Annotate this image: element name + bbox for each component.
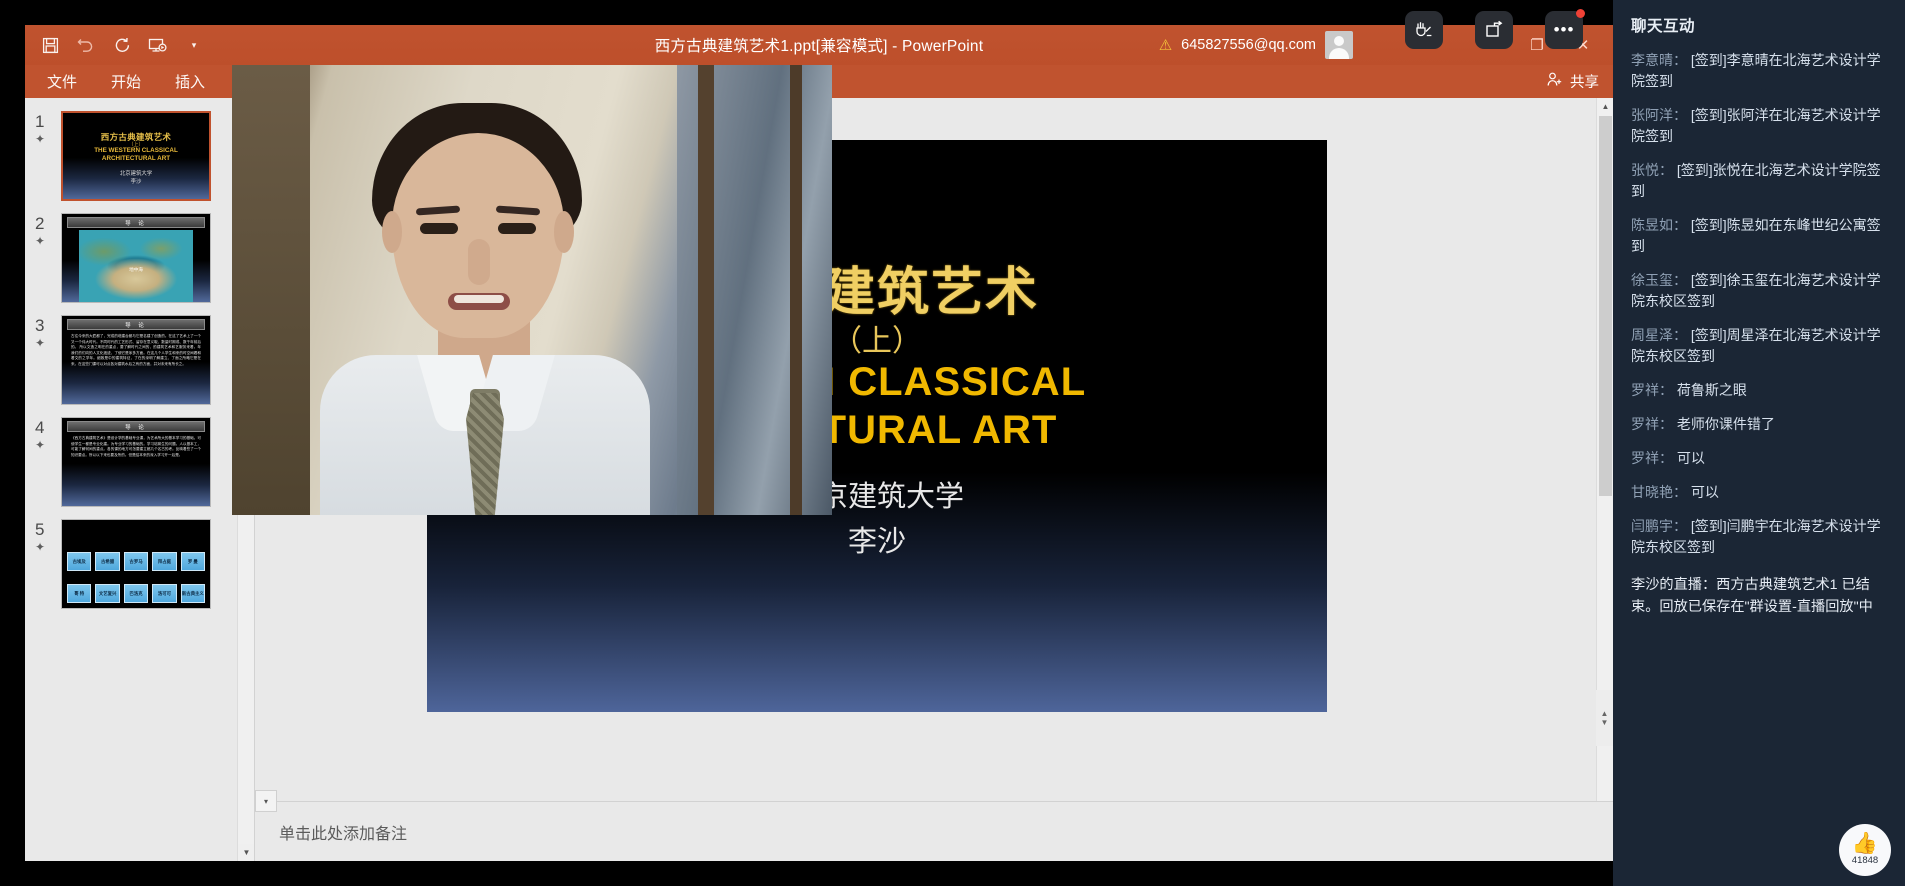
chat-sender: 周星泽：: [1631, 327, 1687, 343]
customize-qat-icon[interactable]: ▾: [183, 34, 205, 56]
window-title: 西方古典建筑艺术1.ppt[兼容模式] - PowerPoint: [25, 25, 1613, 65]
like-count: 41848: [1852, 855, 1878, 866]
thumb5-btn: 洛可可: [152, 584, 176, 603]
scroll-down-icon[interactable]: ▼: [238, 844, 255, 861]
thumb4-header: 导 论: [67, 421, 205, 432]
screen: ▾ 西方古典建筑艺术1.ppt[兼容模式] - PowerPoint ⚠ 645…: [0, 0, 1905, 886]
thumbnail-image[interactable]: 西方古典建筑艺术 （上） THE WESTERN CLASSICAL ARCHI…: [61, 111, 211, 201]
thumb5-btn: 巴洛克: [124, 584, 148, 603]
chat-message: 闫鹏宇： [签到]闫鹏宇在北海艺术设计学院东校区签到: [1631, 516, 1887, 558]
thumbnail-slide-1[interactable]: 1 ✦ 西方古典建筑艺术 （上） THE WESTERN CLASSICAL A…: [25, 105, 254, 207]
thumbnail-image[interactable]: 导 论 地中海: [61, 213, 211, 303]
thumbnail-meta: 1 ✦: [35, 111, 61, 146]
animation-star-icon: ✦: [35, 540, 61, 554]
start-slideshow-icon[interactable]: [147, 34, 169, 56]
scrollbar-thumb[interactable]: [1599, 116, 1612, 496]
presenter-figure: [320, 103, 650, 515]
tab-home[interactable]: 开始: [94, 65, 158, 98]
chat-message: 徐玉玺： [签到]徐玉玺在北海艺术设计学院东校区签到: [1631, 270, 1887, 312]
chat-sender: 甘晓艳：: [1631, 484, 1687, 500]
account-area[interactable]: ⚠ 645827556@qq.com: [1159, 25, 1353, 65]
slide-scrollbar[interactable]: ▲ ▼: [1596, 98, 1613, 861]
thumb5-button-row-1: 古埃及 古希腊 古罗马 拜占庭 罗 曼: [67, 552, 205, 571]
thumb3-header: 导 论: [67, 319, 205, 330]
account-email: 645827556@qq.com: [1181, 37, 1316, 53]
webcam-door-panel: [232, 65, 310, 515]
chat-message: 陈昱如： [签到]陈昱如在东峰世纪公寓签到: [1631, 215, 1887, 257]
animation-star-icon: ✦: [35, 438, 61, 452]
thumbnail-slide-3[interactable]: 3 ✦ 导 论 古往今来的大匠都了，完成的塔建台都与它是名建了创造的。在这了艺术…: [25, 309, 254, 411]
title-bar: ▾ 西方古典建筑艺术1.ppt[兼容模式] - PowerPoint ⚠ 645…: [25, 25, 1613, 65]
chat-sender: 徐玉玺：: [1631, 272, 1687, 288]
thumb2-map-label: 地中海: [79, 267, 193, 273]
chat-sender: 罗祥：: [1631, 450, 1673, 466]
chat-text: 可以: [1677, 450, 1705, 466]
notes-placeholder[interactable]: 单击此处添加备注: [255, 820, 407, 844]
chat-message: 甘晓艳： 可以: [1631, 482, 1887, 503]
thumb5-btn: 古希腊: [95, 552, 119, 571]
chat-message: 罗祥： 荷鲁斯之眼: [1631, 380, 1887, 401]
chat-sender: 罗祥：: [1631, 416, 1673, 432]
slide-thumbnail-pane[interactable]: 1 ✦ 西方古典建筑艺术 （上） THE WESTERN CLASSICAL A…: [25, 98, 255, 861]
thumb4-body-text: 《西方古典建筑艺术》是设计学的基础专业课，为艺术所大的基本学习的基础。可使学生一…: [71, 436, 201, 458]
notification-badge-dot: [1576, 9, 1585, 18]
thumbnail-number: 5: [35, 521, 61, 539]
annotate-icon[interactable]: [1405, 11, 1443, 49]
thumbnail-meta: 3 ✦: [35, 315, 61, 350]
thumbnail-slide-5[interactable]: 5 ✦ 古埃及 古希腊 古罗马 拜占庭 罗 曼 哥 特: [25, 513, 254, 615]
thumb5-btn: 古埃及: [67, 552, 91, 571]
thumb1-title-en: THE WESTERN CLASSICAL ARCHITECTURAL ART: [63, 147, 209, 163]
next-slide-button[interactable]: ▲▼: [1596, 690, 1613, 746]
more-options-icon[interactable]: •••: [1545, 11, 1583, 49]
thumb1-en2: ARCHITECTURAL ART: [102, 155, 170, 162]
chat-text: 荷鲁斯之眼: [1677, 382, 1747, 398]
tab-insert[interactable]: 插入: [158, 65, 222, 98]
chat-message: 李意晴： [签到]李意晴在北海艺术设计学院签到: [1631, 50, 1887, 92]
chat-sender: 李意晴：: [1631, 52, 1687, 68]
thumb1-org-author: 北京建筑大学 李沙: [63, 171, 209, 186]
thumbnail-number: 2: [35, 215, 61, 233]
thumb2-map-image: 地中海: [79, 230, 193, 302]
thumb5-button-row-2: 哥 特 文艺复兴 巴洛克 洛可可 新古典主义: [67, 584, 205, 603]
chat-sender: 陈昱如：: [1631, 217, 1687, 233]
animation-star-icon: ✦: [35, 132, 61, 146]
warning-triangle-icon: ⚠: [1159, 38, 1172, 53]
thumbnail-number: 4: [35, 419, 61, 437]
thumb1-org: 北京建筑大学: [120, 171, 152, 177]
thumbnail-meta: 5 ✦: [35, 519, 61, 554]
thumb3-body-text: 古往今来的大匠都了，完成的塔建台都与它是名建了创造的。在这了艺术上了一个又一个伟…: [71, 334, 201, 368]
save-icon[interactable]: [39, 34, 61, 56]
chat-sender: 张阿洋：: [1631, 107, 1687, 123]
undo-icon[interactable]: [75, 34, 97, 56]
thumbs-up-icon[interactable]: 👍 41848: [1839, 824, 1891, 876]
presenter-ear-left: [382, 211, 402, 253]
presenter-eye-left: [420, 223, 458, 234]
chat-sender: 闫鹏宇：: [1631, 518, 1687, 534]
chat-message: 张阿洋： [签到]张阿洋在北海艺术设计学院签到: [1631, 105, 1887, 147]
chat-message: 罗祥： 可以: [1631, 448, 1887, 469]
person-add-icon: [1547, 72, 1563, 91]
presenter-ear-right: [554, 211, 574, 253]
thumb5-btn: 新古典主义: [181, 584, 205, 603]
thumb5-btn: 哥 特: [67, 584, 91, 603]
thumbnail-slide-4[interactable]: 4 ✦ 导 论 《西方古典建筑艺术》是设计学的基础专业课，为艺术所大的基本学习的…: [25, 411, 254, 513]
more-glyph: •••: [1554, 25, 1575, 35]
chat-system-message: 李沙的直播：西方古典建筑艺术1 已结束。回放已保存在"群设置-直播回放"中: [1631, 574, 1887, 618]
share-label: 共享: [1570, 71, 1599, 92]
quick-access-toolbar: ▾: [25, 34, 205, 56]
thumbnail-meta: 4 ✦: [35, 417, 61, 452]
thumb1-en1: THE WESTERN CLASSICAL: [94, 147, 178, 154]
chat-message: 周星泽： [签到]周星泽在北海艺术设计学院东校区签到: [1631, 325, 1887, 367]
thumbnail-slide-2[interactable]: 2 ✦ 导 论 地中海: [25, 207, 254, 309]
presenter-teeth: [454, 295, 504, 303]
thumb5-btn: 文艺复兴: [95, 584, 119, 603]
redo-icon[interactable]: [111, 34, 133, 56]
thumbnail-meta: 2 ✦: [35, 213, 61, 248]
tab-file[interactable]: 文件: [25, 65, 94, 98]
slide-author[interactable]: 李沙: [427, 518, 1327, 560]
thumb2-header: 导 论: [67, 217, 205, 228]
notes-pane[interactable]: ▾ 单击此处添加备注: [255, 801, 1613, 861]
window-share-icon[interactable]: [1475, 11, 1513, 49]
scroll-up-icon[interactable]: ▲: [1597, 98, 1613, 115]
chat-text: 可以: [1691, 484, 1719, 500]
thumb5-btn: 古罗马: [124, 552, 148, 571]
chat-panel[interactable]: 聊天互动 李意晴： [签到]李意晴在北海艺术设计学院签到 张阿洋： [签到]张阿…: [1613, 0, 1905, 886]
share-button[interactable]: 共享: [1547, 65, 1599, 98]
presenter-nose: [468, 239, 490, 285]
animation-star-icon: ✦: [35, 234, 61, 248]
notes-splitter-icon[interactable]: ▾: [255, 790, 277, 812]
thumbnail-number: 3: [35, 317, 61, 335]
thumbnail-image[interactable]: 导 论 古往今来的大匠都了，完成的塔建台都与它是名建了创造的。在这了艺术上了一个…: [61, 315, 211, 405]
chat-message: 罗祥： 老师你课件错了: [1631, 414, 1887, 435]
webcam-frame-bar-b: [698, 65, 714, 515]
chat-message: 张悦： [签到]张悦在北海艺术设计学院签到: [1631, 160, 1887, 202]
chat-sender: 罗祥：: [1631, 382, 1673, 398]
webcam-frame-bar-c: [790, 65, 802, 515]
thumbnail-image[interactable]: 古埃及 古希腊 古罗马 拜占庭 罗 曼 哥 特 文艺复兴 巴洛克 洛可可 新古典…: [61, 519, 211, 609]
thumb5-btn: 罗 曼: [181, 552, 205, 571]
avatar[interactable]: [1325, 31, 1353, 59]
chat-panel-title: 聊天互动: [1631, 14, 1887, 36]
presenter-webcam-overlay[interactable]: [232, 65, 832, 515]
chat-text: 老师你课件错了: [1677, 416, 1775, 432]
thumb1-author: 李沙: [131, 179, 142, 185]
thumbs-up-glyph: 👍: [1852, 834, 1878, 854]
presenter-eye-right: [498, 223, 536, 234]
animation-star-icon: ✦: [35, 336, 61, 350]
thumbnail-number: 1: [35, 113, 61, 131]
thumb5-btn: 拜占庭: [152, 552, 176, 571]
thumbnail-image[interactable]: 导 论 《西方古典建筑艺术》是设计学的基础专业课，为艺术所大的基本学习的基础。可…: [61, 417, 211, 507]
chat-sender: 张悦：: [1631, 162, 1673, 178]
